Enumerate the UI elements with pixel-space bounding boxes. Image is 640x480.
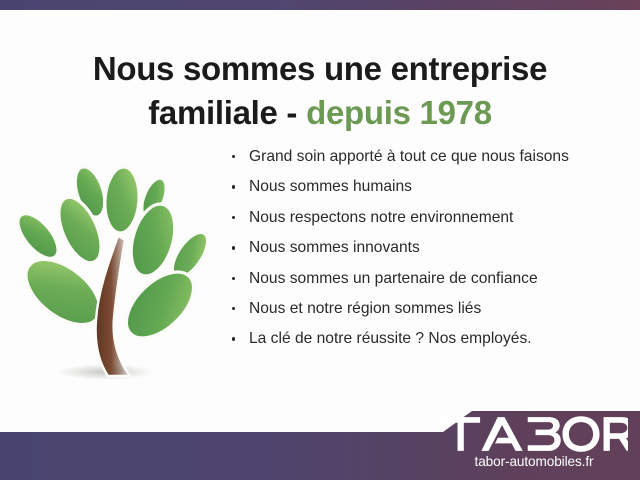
list-item: Nous sommes innovants <box>228 239 628 257</box>
tree-illustration <box>8 140 220 390</box>
list-item-label: Nous et notre région sommes liés <box>249 300 481 317</box>
list-item: Nous sommes un partenaire de confiance <box>228 270 628 288</box>
bullet-dot-icon <box>232 155 235 158</box>
list-item-label: Nous sommes humains <box>249 178 412 195</box>
top-accent-bar <box>0 0 640 10</box>
bullet-dot-icon <box>232 337 235 340</box>
list-item: La clé de notre réussite ? Nos employés. <box>228 330 628 348</box>
title-line-1: Nous sommes une entreprise <box>93 50 547 87</box>
list-item-label: Nous respectons notre environnement <box>249 209 513 226</box>
list-item: Grand soin apporté à tout ce que nous fa… <box>228 148 628 166</box>
list-item-label: Nous sommes un partenaire de confiance <box>249 270 538 287</box>
bullet-dot-icon <box>232 216 235 219</box>
footer-band: tabor-automobiles.fr <box>0 405 640 480</box>
title-accent-since: depuis 1978 <box>306 94 492 131</box>
list-item: Nous sommes humains <box>228 178 628 196</box>
title-line-2: familiale -depuis 1978 <box>0 92 640 134</box>
bullet-dot-icon <box>232 185 235 188</box>
list-item: Nous et notre région sommes liés <box>228 300 628 318</box>
list-item-label: Grand soin apporté à tout ce que nous fa… <box>249 148 569 165</box>
bullet-dot-icon <box>232 277 235 280</box>
brand-logo[interactable]: tabor-automobiles.fr <box>440 414 628 469</box>
brand-url[interactable]: tabor-automobiles.fr <box>440 455 628 469</box>
bullet-dot-icon <box>232 307 235 310</box>
slide-root: Nous sommes une entreprise familiale -de… <box>0 0 640 480</box>
tabor-wordmark-icon <box>440 414 628 454</box>
bullet-dot-icon <box>232 246 235 249</box>
title-line-2-main: familiale - <box>148 94 297 131</box>
page-title: Nous sommes une entreprise familiale -de… <box>0 48 640 133</box>
list-item: Nous respectons notre environnement <box>228 209 628 227</box>
value-bullet-list: Grand soin apporté à tout ce que nous fa… <box>228 148 628 361</box>
list-item-label: La clé de notre réussite ? Nos employés. <box>249 330 532 347</box>
list-item-label: Nous sommes innovants <box>249 239 420 256</box>
